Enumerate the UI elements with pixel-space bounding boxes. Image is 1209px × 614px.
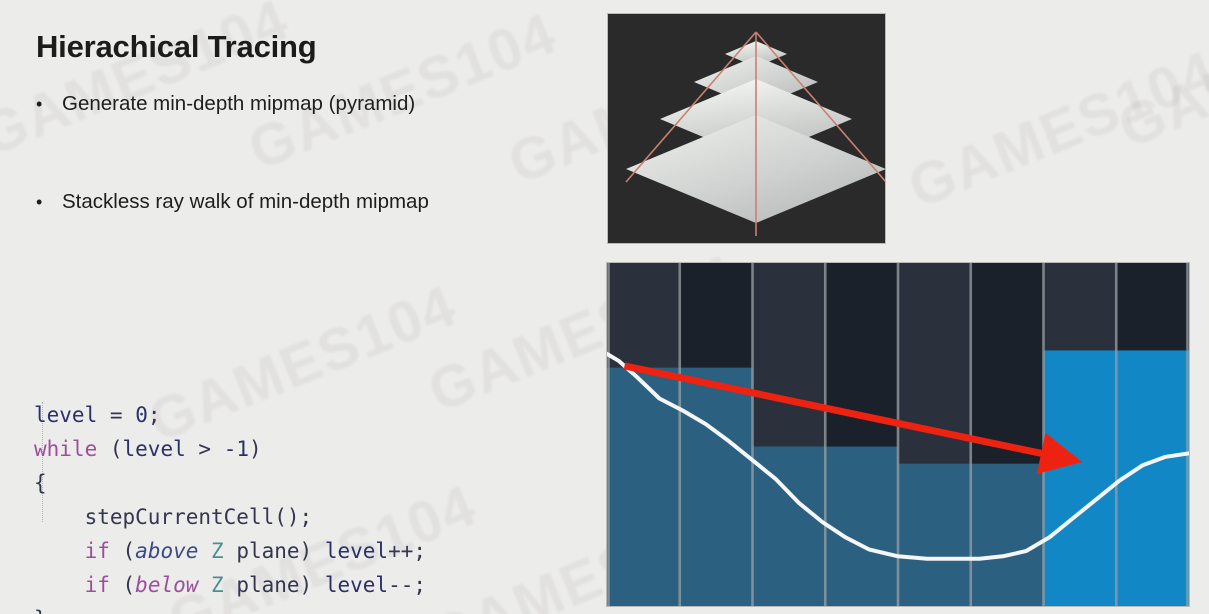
code-token-punct [123,403,136,427]
code-token-var: level [34,403,97,427]
code-token-punct: plane) [224,539,325,563]
code-token-punct: ( [97,437,122,461]
code-line-5: if (below Z plane) level--; [34,568,426,602]
bullet-label-0: Generate min-depth mipmap (pyramid) [62,92,415,116]
code-token-punct [198,539,211,563]
code-snippet: level = 0;while (level > -1){ stepCurren… [34,296,426,614]
code-token-punct [34,573,85,597]
code-token-punct: ( [110,539,135,563]
watermark-4: GAMES104 [1109,0,1209,162]
code-token-punct: plane) [224,573,325,597]
code-token-punct [211,437,224,461]
pyramid-svg [608,14,885,243]
code-token-kw: while [34,437,97,461]
code-token-var: level [325,573,388,597]
code-token-punct: ) [249,437,262,461]
page-title: Hierachical Tracing [36,29,317,65]
min-depth-block-7 [1116,350,1189,606]
slide-canvas: GAMES104GAMES104GAMES104GAMES104GAMES104… [0,0,1209,614]
code-token-punct: ( [110,573,135,597]
code-token-punct: (); [274,505,312,529]
code-line-1: while (level > -1) [34,432,426,466]
code-line-2: { [34,466,426,500]
code-line-0: level = 0; [34,398,426,432]
code-token-var: level [325,539,388,563]
code-line-3: stepCurrentCell(); [34,500,426,534]
code-line-4: if (above Z plane) level++; [34,534,426,568]
bullet-item-0: • Generate min-depth mipmap (pyramid) [36,92,415,116]
code-token-var: level [123,437,186,461]
code-token-type: Z [211,573,224,597]
bullet-item-1: • Stackless ray walk of min-depth mipmap [36,190,429,214]
pyramid-figure [608,14,885,243]
code-token-kw: if [85,539,110,563]
code-token-em: above [135,539,198,563]
code-token-punct: ; [148,403,161,427]
bullet-dot-icon: • [36,95,62,113]
min-depth-block-1 [680,368,753,606]
code-token-func: stepCurrentCell [85,505,275,529]
mipmap-ray-walk-svg [607,263,1189,606]
code-token-punct: { [34,471,47,495]
code-token-type: Z [211,539,224,563]
code-token-punct [186,437,199,461]
code-token-punct: } [34,607,47,614]
code-token-punct [34,539,85,563]
code-token-punct: --; [388,573,426,597]
code-token-punct: ++; [388,539,426,563]
min-depth-block-5 [971,464,1044,606]
watermark-3: GAMES104 [899,37,1209,221]
slide-left-column: Hierachical Tracing • Generate min-depth… [0,0,600,614]
min-depth-block-6 [1044,350,1117,606]
code-token-punct [97,403,110,427]
code-token-punct [34,505,85,529]
code-token-em2: below [135,573,198,597]
code-token-num: 0 [135,403,148,427]
code-token-punct [198,573,211,597]
min-depth-block-3 [825,447,898,606]
mipmap-ray-walk-figure [607,263,1189,606]
code-token-punct: > [198,437,211,461]
code-token-num: -1 [224,437,249,461]
bullet-label-1: Stackless ray walk of min-depth mipmap [62,190,429,214]
code-line-6: } [34,602,426,614]
min-depth-block-4 [898,464,971,606]
code-token-punct: = [110,403,123,427]
code-token-kw: if [85,573,110,597]
bullet-dot-icon: • [36,193,62,211]
